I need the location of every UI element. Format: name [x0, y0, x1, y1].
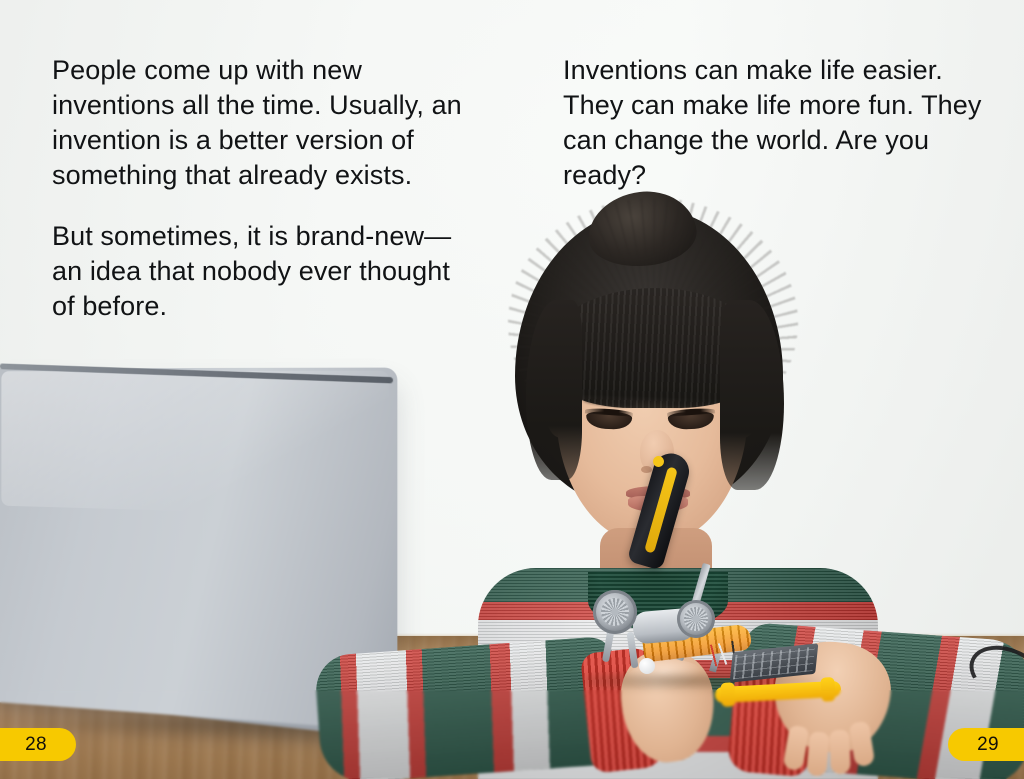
finger-3 [829, 730, 851, 775]
page-number-badge-left: 28 [0, 728, 76, 761]
right-page-text: Inventions can make life easier. They ca… [563, 53, 993, 193]
toy-wheel-left [593, 590, 637, 634]
left-page-text: People come up with new inventions all t… [52, 53, 476, 324]
sweater-sleeve-left [314, 636, 622, 779]
page-number-badge-right: 29 [948, 728, 1024, 761]
book-page-spread: People come up with new inventions all t… [0, 0, 1024, 779]
robot-toy-kit [585, 586, 845, 696]
yellow-plastic-part [715, 681, 842, 704]
nostril-left [641, 466, 652, 473]
paragraph: But sometimes, it is brand-new—an idea t… [52, 219, 476, 324]
toy-wheel-right [677, 600, 715, 638]
paragraph: People come up with new inventions all t… [52, 53, 476, 193]
paragraph: Inventions can make life easier. They ca… [563, 53, 993, 193]
hair-side-left [526, 300, 582, 480]
toy-white-ball [639, 658, 655, 674]
